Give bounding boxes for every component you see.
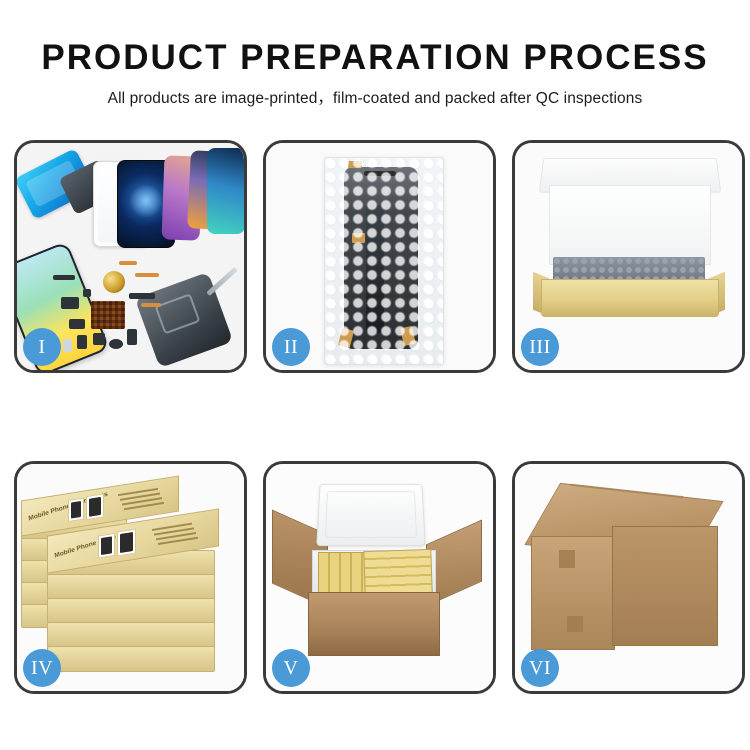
carton-tab-icon — [559, 550, 575, 568]
stacked-box-icon — [47, 598, 215, 624]
stacked-box-icon — [47, 574, 215, 600]
spare-part-icon — [63, 339, 72, 352]
step-badge-4: IV — [23, 649, 61, 687]
spare-part-icon — [61, 297, 79, 309]
flex-cable-icon — [119, 261, 137, 265]
spare-part-icon — [109, 339, 123, 349]
step-panel-1: I — [14, 140, 247, 373]
box-front-icon — [541, 279, 719, 317]
packed-boxes-icon — [363, 549, 432, 595]
spare-part-icon — [127, 329, 137, 345]
step-panel-5: V — [263, 461, 496, 694]
step-badge-3: III — [521, 328, 559, 366]
step-panel-4: Mobile Phone Spare Parts Mobile Phone Sp… — [14, 461, 247, 694]
flex-cable-icon — [141, 303, 161, 307]
spare-part-icon — [77, 335, 87, 349]
spare-part-icon — [93, 333, 105, 345]
circuit-board-part-icon — [91, 301, 125, 329]
box-artwork-swatch — [68, 498, 84, 523]
page-title: PRODUCT PREPARATION PROCESS — [0, 40, 750, 77]
stacked-box-icon — [47, 646, 215, 672]
step-badge-1: I — [23, 328, 61, 366]
step-panel-6: VI — [512, 461, 745, 694]
grey-bubble-padding-icon — [553, 257, 705, 281]
gold-coil-part-icon — [103, 271, 125, 293]
spare-part-icon — [53, 275, 75, 280]
carton-body-icon — [308, 592, 440, 656]
box-artwork-swatch — [98, 533, 115, 559]
spare-part-icon — [69, 319, 85, 329]
step-badge-5: V — [272, 649, 310, 687]
step-badge-6: VI — [521, 649, 559, 687]
stacked-box-icon — [47, 622, 215, 648]
page-subtitle: All products are image-printed，film-coat… — [0, 86, 750, 108]
carton-right-face-icon — [612, 526, 718, 646]
spare-part-icon — [83, 289, 91, 297]
foam-liner-icon — [549, 185, 711, 265]
spare-part-icon — [129, 293, 155, 299]
wrapped-part-strip-icon — [366, 205, 384, 333]
steps-grid: I II — [14, 140, 736, 694]
step-panel-3: III — [512, 140, 745, 373]
box-artwork-swatch — [117, 529, 136, 557]
tape-icon — [348, 161, 362, 168]
product-preparation-infographic: PRODUCT PREPARATION PROCESS All products… — [0, 0, 750, 750]
step-panel-2: II — [263, 140, 496, 373]
box-artwork-swatch — [86, 493, 104, 520]
foam-cooler-lid-icon — [316, 484, 426, 546]
flex-cable-icon — [135, 273, 159, 277]
step-badge-2: II — [272, 328, 310, 366]
carton-tab-icon — [567, 616, 583, 632]
header: PRODUCT PREPARATION PROCESS All products… — [0, 0, 750, 108]
phone-teal-icon — [207, 148, 244, 234]
tape-icon — [352, 233, 365, 243]
